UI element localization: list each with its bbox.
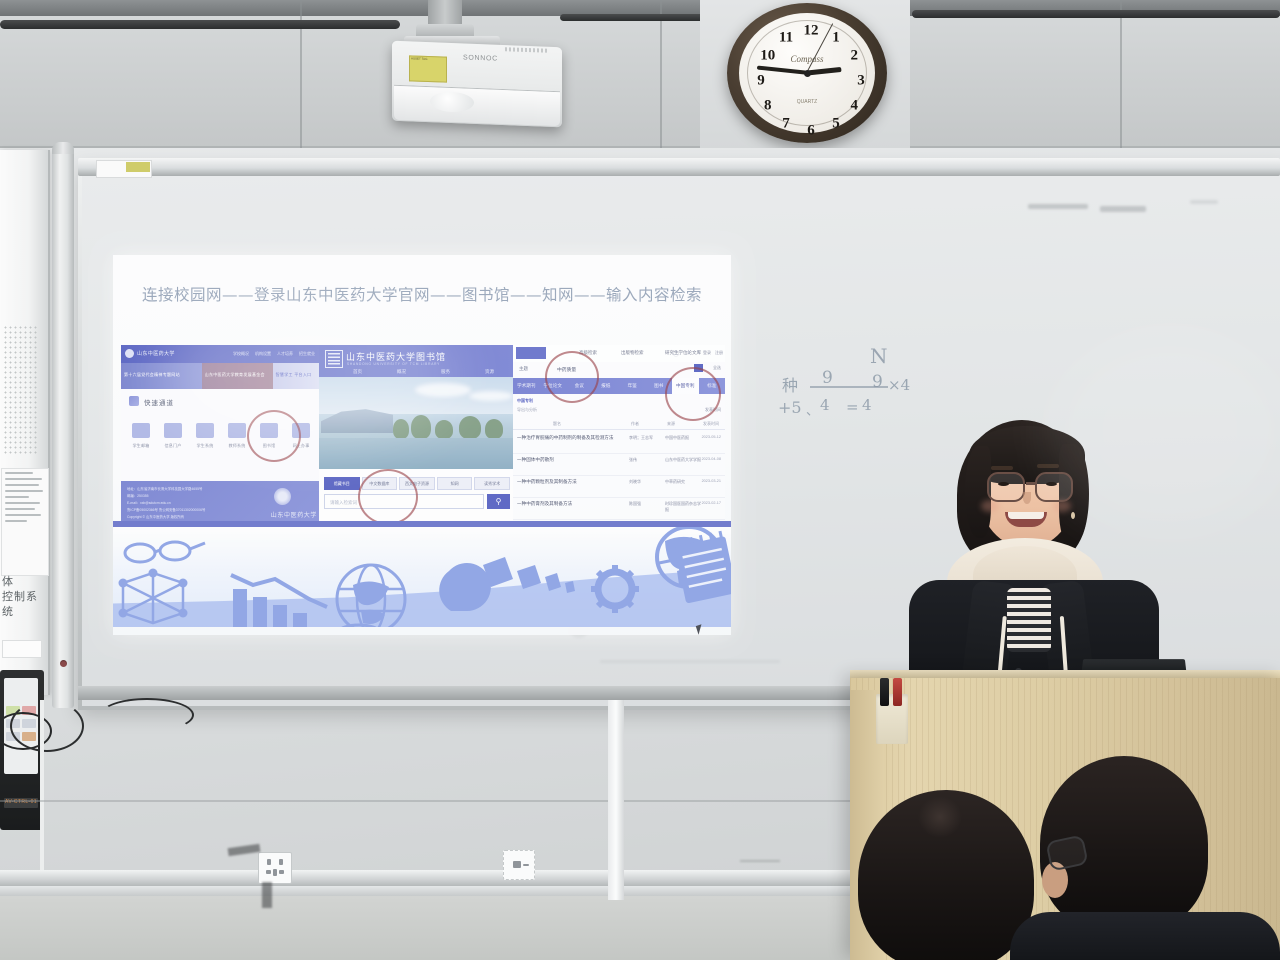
presenter-student xyxy=(895,420,1165,690)
quick-access-item[interactable]: 学生系统 xyxy=(191,423,219,449)
hero-tree xyxy=(459,416,481,439)
handwriting-mark: 4 xyxy=(862,396,872,414)
audience-hair-part xyxy=(918,796,962,838)
mullion-indicator xyxy=(60,660,67,667)
banner-2-text: 山东中医药大学教育发展基金会 xyxy=(202,363,273,386)
red-marker[interactable] xyxy=(893,678,902,706)
ceiling-pipe xyxy=(912,10,1280,18)
cnki-result-row[interactable]: 一种固体中药散剂张伟山东中医药大学学报2023-04-08 xyxy=(513,453,725,476)
presenter-eye-right xyxy=(1046,482,1057,486)
library-search-tab[interactable]: 馆藏书目 xyxy=(324,477,360,490)
clock-numeral-8: 8 xyxy=(764,98,772,115)
cnki-menu-item[interactable]: 出版物检索 xyxy=(621,350,644,356)
result-date: 2023-03-21 xyxy=(702,479,721,483)
whiteboard-asset-sticker xyxy=(96,160,152,178)
annotation-circle-library-link xyxy=(247,410,301,462)
wall-scuff xyxy=(262,882,272,908)
site-nav-item[interactable]: 学校概况 xyxy=(233,351,249,357)
library-logo-icon xyxy=(325,350,343,368)
result-source: 中草药研究 xyxy=(665,479,701,485)
clock-numeral-9: 9 xyxy=(757,73,765,90)
cabinet-label-line1: 体 xyxy=(2,575,48,590)
projector-asset-label: ASSET TAG xyxy=(409,55,447,82)
instruction-sheet xyxy=(1,468,49,576)
library-title-en: SHANDONG UNIVERSITY OF TCM LIBRARY xyxy=(347,362,440,366)
clock-center-pin xyxy=(804,70,811,77)
footer-line: E-mail：xxb@sdutcm.edu.cn xyxy=(127,500,171,505)
handwriting-mark: 4 xyxy=(820,396,830,414)
login-link[interactable]: 登录 xyxy=(703,350,711,356)
presenter-striped-shirt xyxy=(1007,588,1051,652)
notebook-icon xyxy=(673,530,731,603)
quick-access-title: 快速通道 xyxy=(144,397,174,407)
field-selector[interactable]: 主题 xyxy=(519,366,528,372)
hero-tree xyxy=(411,415,431,439)
wall-pillar xyxy=(608,700,624,900)
search-icon[interactable]: ⚲ xyxy=(487,494,510,509)
university-logo-text: 山东中医药大学 xyxy=(137,350,175,357)
cnki-result-row[interactable]: 一种中药膏剂及其制备方法陈国强时珍国医国药杂志学报2023-02-17 xyxy=(513,497,725,520)
presenter-glasses-left xyxy=(987,472,1025,502)
handwriting-mark: N xyxy=(870,344,888,368)
ceiling-panel-line xyxy=(1120,0,1122,150)
site-header: 山东中医药大学 学校概况 机构设置 人才培养 招生就业 xyxy=(121,345,321,363)
marker-holder[interactable] xyxy=(876,694,908,744)
hero-tree xyxy=(393,419,409,439)
cnki-header: 高级检索 出版物检索 研究生学位论文库 ⓘ ☆ 登录 注册 xyxy=(513,345,725,362)
clock-numeral-10: 10 xyxy=(760,48,775,65)
presenter-earring xyxy=(1071,512,1075,519)
column-date: 发表时间 xyxy=(703,421,719,427)
audience-member-front-left xyxy=(858,790,1034,960)
classroom-scene: ASSET TAG SONNOC Compass QUARTZ 12123456… xyxy=(0,0,1280,960)
whiteboard-smudge xyxy=(1190,200,1218,204)
clock-numeral-1: 1 xyxy=(832,29,840,46)
result-title: 一种中药膏剂及其制备方法 xyxy=(517,500,625,507)
slide-title: 连接校园网——登录山东中医药大学官网——图书馆——知网——输入内容检索 xyxy=(113,283,731,305)
mail-icon xyxy=(132,423,150,438)
presenter-glasses-bridge xyxy=(1026,482,1037,485)
power-outlet[interactable] xyxy=(258,852,292,884)
printer-icon xyxy=(228,423,246,438)
library-hero-photo xyxy=(319,377,515,469)
library-nav-item[interactable]: 服务 xyxy=(441,369,450,375)
glasses-icon xyxy=(125,544,155,562)
library-nav-item[interactable]: 资源 xyxy=(485,369,494,375)
projector-lens-band xyxy=(394,85,560,126)
library-nav-item[interactable]: 首页 xyxy=(353,369,362,375)
clock-numeral-6: 6 xyxy=(807,123,815,140)
cabinet-label-line2: 控制系统 xyxy=(2,590,48,620)
handwriting-mark: +5 xyxy=(778,398,802,417)
molecule-node-icon xyxy=(149,569,158,578)
wall-mullion-cap xyxy=(52,142,74,154)
hanging-cable xyxy=(10,700,84,752)
whiteboard-smudge xyxy=(600,660,780,663)
projector-brand-text: SONNOC xyxy=(463,54,498,62)
handwriting-mark: 种 xyxy=(782,372,798,396)
university-seal-icon xyxy=(274,488,291,505)
whiteboard-frame-top xyxy=(78,158,1280,176)
wall-clock: Compass QUARTZ 121234567891011 xyxy=(727,3,887,143)
black-marker[interactable] xyxy=(880,678,889,706)
result-date: 2023-04-08 xyxy=(702,457,721,461)
cnki-result-row[interactable]: 一种治疗胃脘痛的中药制剂的制备及其检测方法李明；王志军中国中医药报2023-05… xyxy=(513,431,725,454)
wall-trim-rail-lower xyxy=(0,886,900,896)
quick-access-item[interactable]: 信息门户 xyxy=(159,423,187,449)
handwriting-mark: 9 xyxy=(822,368,833,388)
help-icon[interactable]: ⓘ xyxy=(673,349,679,358)
gear-icon xyxy=(591,565,639,613)
cnki-result-tab[interactable]: 年鉴 xyxy=(619,383,646,389)
calendar-icon xyxy=(196,423,214,438)
molecule-node-icon xyxy=(179,579,188,588)
cabinet-label: 体 控制系统 xyxy=(2,575,48,620)
column-author: 作者 xyxy=(631,421,639,427)
banner-1-text: 第十六届党代会精神专题网站 xyxy=(121,363,202,386)
quick-access-label: 教师系统 xyxy=(223,443,251,449)
cnki-menu-item[interactable]: 研究生学位论文库 xyxy=(665,350,701,356)
result-author: 陈国强 xyxy=(629,501,663,507)
quick-access-item[interactable]: 学生邮箱 xyxy=(127,423,155,449)
projected-slide: 连接校园网——登录山东中医药大学官网——图书馆——知网——输入内容检索 山东中医… xyxy=(113,255,731,635)
library-search-tab[interactable]: 读秀学术 xyxy=(474,477,510,490)
clock-face: Compass QUARTZ 121234567891011 xyxy=(739,13,875,133)
quick-access-label: 信息门户 xyxy=(159,443,187,449)
banner-1[interactable]: 第十六届党代会精神专题网站 xyxy=(121,363,202,389)
cabinet-asset-tag xyxy=(2,640,42,658)
presenter-nose xyxy=(1023,492,1031,504)
site-footer: 地址：山东省济南市长清大学科技园大学路4655号 邮编：250355 E-mai… xyxy=(121,481,321,523)
clock-brand: Compass xyxy=(790,54,823,64)
presenter-eye-left xyxy=(998,482,1009,486)
globe-stand-icon xyxy=(339,625,379,627)
toolbar-link[interactable]: 全选 xyxy=(713,365,721,371)
result-author: 张伟 xyxy=(629,457,663,463)
library-search-tabs: 馆藏书目中文数据库西文电子资源知网读秀学术 xyxy=(324,477,510,490)
portal-icon xyxy=(164,423,182,438)
cnki-table-header: 题名 作者 来源 发表时间 xyxy=(513,420,725,430)
column-source: 来源 xyxy=(667,421,675,427)
lightbulb-icon xyxy=(439,563,491,611)
seal-text: 山东中医药大学 xyxy=(271,510,317,519)
banner-3-text: 智慧学工 平台入口 xyxy=(273,363,321,386)
wall-seam xyxy=(0,800,880,802)
page-shards-icon xyxy=(483,557,575,593)
university-logo-icon xyxy=(125,349,134,358)
column-title: 题名 xyxy=(553,421,561,427)
result-author: 刘晓华 xyxy=(629,479,663,485)
ceiling-panel-line xyxy=(660,0,662,150)
academic-icons-band xyxy=(113,527,731,627)
footer-line: Copyright © 山东中医药大学 版权所有 xyxy=(127,514,184,519)
footer-line: 鲁ICP备05002366号 鲁公网安备37011302000006号 xyxy=(127,507,205,512)
audience-shoulders xyxy=(1010,912,1280,960)
quick-access-icon xyxy=(129,396,139,406)
handwriting-mark: ×4 xyxy=(888,376,910,394)
annotation-circle-cnki-keyword xyxy=(545,351,599,403)
result-author: 李明；王志军 xyxy=(629,435,663,441)
handwriting-mark: 9 xyxy=(872,372,883,392)
clock-numeral-3: 3 xyxy=(857,73,865,90)
library-nav-item[interactable]: 概况 xyxy=(397,369,406,375)
filter-selected-label: 中国专利 xyxy=(517,398,533,403)
molecule-node-icon xyxy=(179,609,188,618)
presenter-eyebrow-right xyxy=(1037,464,1059,468)
molecule-node-icon xyxy=(119,609,128,618)
register-link[interactable]: 注册 xyxy=(715,350,723,356)
bar-chart-icon xyxy=(233,589,307,627)
projector-mount xyxy=(428,0,462,26)
clock-numeral-11: 11 xyxy=(779,29,793,46)
hero-tree xyxy=(435,420,453,439)
cnki-result-tab[interactable]: 学术期刊 xyxy=(513,383,540,389)
result-source: 时珍国医国药杂志学报 xyxy=(665,501,701,513)
glasses-arm-icon xyxy=(190,543,205,549)
hero-cloud xyxy=(415,383,471,397)
hero-lake xyxy=(319,438,515,469)
globe-icon xyxy=(337,565,405,627)
cnki-filter-row[interactable]: 导出与分析 xyxy=(517,407,537,413)
cnki-result-row[interactable]: 一种中药颗粒剂及其制备方法刘晓华中草药研究2023-03-21 xyxy=(513,475,725,498)
speaker-grille-icon xyxy=(3,325,37,455)
footer-line: 邮编：250355 xyxy=(127,493,149,498)
handwriting-fraction-bar xyxy=(810,386,888,388)
site-nav-item[interactable]: 机构设置 xyxy=(255,351,271,357)
handwriting-mark: 、 xyxy=(806,400,819,419)
hero-cloud xyxy=(469,391,513,401)
result-title: 一种治疗胃脘痛的中药制剂的制备及其检测方法 xyxy=(517,434,625,441)
banner-row: 第十六届党代会精神专题网站 山东中医药大学教育发展基金会 智慧学工 平台入口 xyxy=(121,363,321,389)
footer-line: 地址：山东省济南市长清大学科技园大学路4655号 xyxy=(127,486,202,491)
result-source: 山东中医药大学学报 xyxy=(665,457,701,463)
result-date: 2023-05-12 xyxy=(702,435,721,439)
annotation-circle-cnki-tab xyxy=(665,367,721,421)
result-title: 一种中药颗粒剂及其制备方法 xyxy=(517,478,625,485)
wall-scuff xyxy=(740,860,780,862)
cnki-filter-active: 中国专利 xyxy=(517,398,533,404)
annotation-circle-library-tab xyxy=(358,469,418,525)
hanging-cable xyxy=(100,698,194,732)
clock-numeral-7: 7 xyxy=(782,116,790,133)
hero-tree xyxy=(485,419,503,439)
clock-numeral-4: 4 xyxy=(851,98,859,115)
presenter-glasses-right xyxy=(1035,472,1073,502)
clock-numeral-2: 2 xyxy=(851,48,859,65)
network-port[interactable] xyxy=(503,850,535,880)
wall-mullion xyxy=(52,148,74,708)
clock-numeral-12: 12 xyxy=(804,23,819,40)
library-header: 山东中医药大学图书馆 SHANDONG UNIVERSITY OF TCM LI… xyxy=(319,345,515,377)
wall-baseboard xyxy=(0,896,900,960)
handwriting-mark: = xyxy=(846,398,859,416)
result-date: 2023-02-17 xyxy=(702,501,721,505)
glasses-bridge-icon xyxy=(155,550,160,552)
banner-3[interactable]: 智慧学工 平台入口 xyxy=(273,363,321,389)
cnki-logo[interactable] xyxy=(516,347,546,359)
whiteboard-smudge xyxy=(1100,206,1146,212)
clock-sub-brand: QUARTZ xyxy=(797,99,817,105)
band-icon-set xyxy=(113,527,731,627)
glasses-icon xyxy=(160,542,190,560)
site-nav-item[interactable]: 人才培养 xyxy=(277,351,293,357)
ceiling-pipe xyxy=(0,20,400,29)
site-nav-item[interactable]: 招生就业 xyxy=(299,351,315,357)
molecule-icon xyxy=(123,573,183,623)
result-title: 一种固体中药散剂 xyxy=(517,456,625,463)
quick-access-label: 学生系统 xyxy=(191,443,219,449)
molecule-node-icon xyxy=(119,579,128,588)
clock-numeral-5: 5 xyxy=(832,116,840,133)
banner-2[interactable]: 山东中医药大学教育发展基金会 xyxy=(202,363,273,389)
quick-access-label: 学生邮箱 xyxy=(127,443,155,449)
bell-icon[interactable]: ☆ xyxy=(686,349,691,356)
presenter-eyebrow-left xyxy=(991,466,1013,470)
whiteboard-smudge xyxy=(1028,204,1088,209)
multimedia-control-cabinet[interactable]: 体 控制系统 AV-CTRL-01 xyxy=(0,150,50,695)
library-search-tab[interactable]: 知网 xyxy=(437,477,473,490)
wall-trim-rail xyxy=(0,870,900,886)
result-source: 中国中医药报 xyxy=(665,435,701,441)
